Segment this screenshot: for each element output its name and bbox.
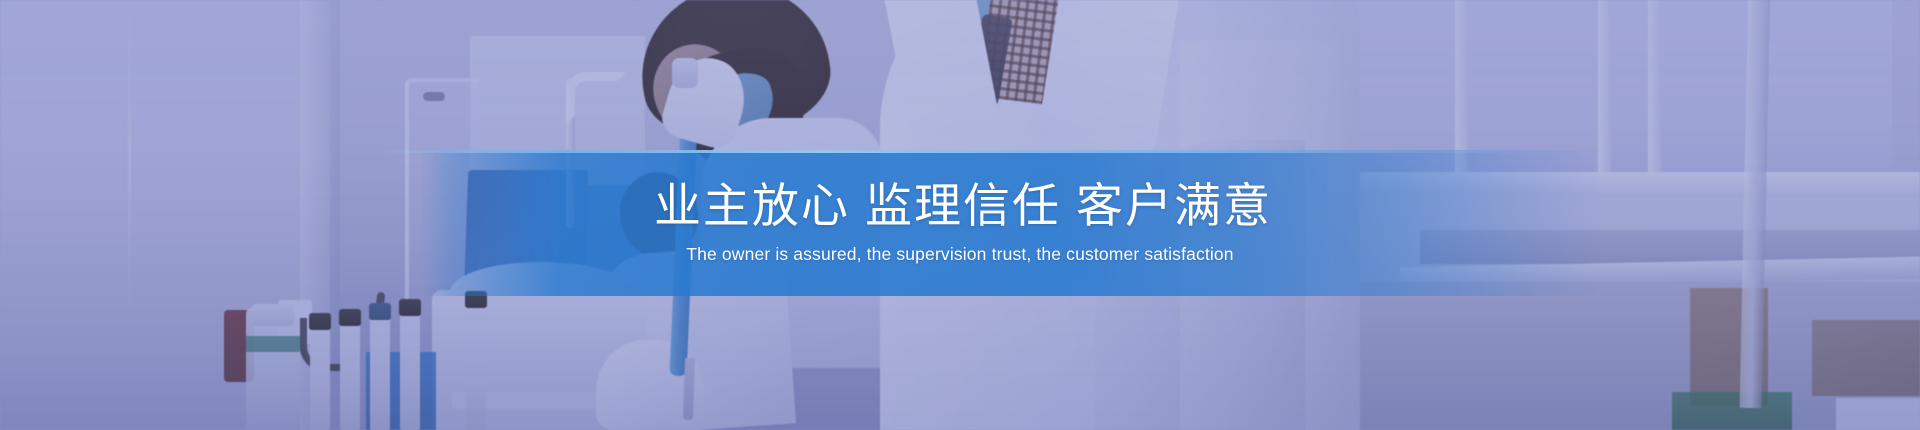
banner-text-block: 业主放心 监理信任 客户满意 The owner is assured, the…	[0, 150, 1920, 296]
hero-banner: 业主放心 监理信任 客户满意 The owner is assured, the…	[0, 0, 1920, 430]
banner-subline: The owner is assured, the supervision tr…	[686, 244, 1233, 265]
banner-headline: 业主放心 监理信任 客户满意	[648, 181, 1272, 232]
